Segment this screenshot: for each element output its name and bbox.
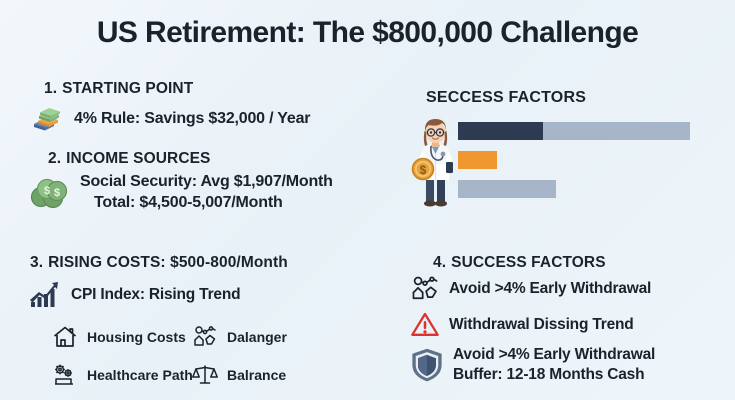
section-2-heading: 2.INCOME SOURCES bbox=[48, 150, 211, 168]
factor-grid-item: Healthcare Path bbox=[52, 362, 192, 388]
scales-icon bbox=[192, 362, 218, 388]
coins-icon: $ $ bbox=[26, 172, 72, 212]
svg-text:$: $ bbox=[54, 187, 60, 199]
chart-bar-2-segment-orange bbox=[458, 151, 497, 169]
page-title: US Retirement: The $800,000 Challenge bbox=[0, 16, 735, 50]
svg-text:$: $ bbox=[420, 163, 427, 177]
rising-bar-chart-icon bbox=[28, 280, 62, 310]
money-stack-icon bbox=[30, 104, 64, 134]
section-4-list: Avoid >4% Early Withdrawal Withdrawal Di… bbox=[410, 274, 735, 390]
section-1-heading: 1.STARTING POINT bbox=[44, 80, 193, 98]
section-3-title: RISING COSTS: $500-800/Month bbox=[48, 254, 288, 271]
section-4-item: Avoid >4% Early Withdrawal bbox=[410, 274, 735, 304]
section-3-row: CPI Index: Rising Trend bbox=[28, 280, 240, 310]
section-4-item: Avoid >4% Early Withdrawal Buffer: 12-18… bbox=[410, 346, 735, 384]
factor-grid-item: Dalanger bbox=[192, 324, 352, 350]
chart-bar-1-segment-light bbox=[543, 122, 690, 140]
section-4-item-texts: Avoid >4% Early Withdrawal bbox=[449, 280, 651, 298]
svg-text:$: $ bbox=[44, 185, 50, 197]
factor-grid-label: Dalanger bbox=[227, 329, 287, 345]
shield-icon bbox=[410, 347, 444, 383]
gears-icon bbox=[52, 362, 78, 388]
chart-bar-1-segment-dark bbox=[458, 122, 543, 140]
factor-grid: Housing Costs Dalanger bbox=[52, 324, 352, 388]
section-4-number: 4. bbox=[433, 254, 446, 271]
infographic-canvas: US Retirement: The $800,000 Challenge 1.… bbox=[0, 0, 735, 400]
network-people-icon bbox=[410, 274, 440, 304]
section-2-texts: Social Security: Avg $1,907/Month Total:… bbox=[80, 173, 333, 212]
section-1-title: STARTING POINT bbox=[62, 80, 193, 97]
left-column: 1.STARTING POINT 4% bbox=[0, 72, 388, 397]
factor-grid-item: Housing Costs bbox=[52, 324, 192, 350]
section-4-item-texts: Withdrawal Dissing Trend bbox=[449, 316, 634, 334]
section-2-title: INCOME SOURCES bbox=[66, 150, 210, 167]
doctor-with-coin-illustration: $ bbox=[404, 114, 466, 210]
section-4-item-line-1: Withdrawal Dissing Trend bbox=[449, 316, 634, 334]
factor-grid-label: Balrance bbox=[227, 367, 286, 383]
section-2-line-1: Social Security: Avg $1,907/Month bbox=[80, 173, 333, 191]
chart-bar-3-segment-light bbox=[458, 180, 556, 198]
section-4-item-line-1: Avoid >4% Early Withdrawal bbox=[453, 346, 655, 364]
section-2-line-2: Total: $4,500-5,007/Month bbox=[94, 194, 333, 212]
house-icon bbox=[52, 324, 78, 350]
section-4-item-line-1: Avoid >4% Early Withdrawal bbox=[449, 280, 651, 298]
section-4-item-texts: Avoid >4% Early Withdrawal Buffer: 12-18… bbox=[453, 346, 655, 384]
right-column: SECCESS FACTORS bbox=[388, 72, 735, 397]
section-4-item: Withdrawal Dissing Trend bbox=[410, 310, 735, 340]
section-3-number: 3. bbox=[30, 254, 43, 271]
section-3-text: CPI Index: Rising Trend bbox=[71, 286, 240, 304]
section-2-number: 2. bbox=[48, 150, 61, 167]
success-factors-chart-heading: SECCESS FACTORS bbox=[426, 89, 586, 107]
section-3-heading: 3.RISING COSTS: $500-800/Month bbox=[30, 254, 288, 272]
warning-triangle-icon bbox=[410, 310, 440, 340]
section-4-heading: 4.SUCCESS FACTORS bbox=[433, 254, 606, 272]
section-2-row: $ $ Social Security: Avg $1,907/Month To… bbox=[26, 172, 333, 212]
factor-grid-label: Healthcare Path bbox=[87, 367, 193, 383]
factor-grid-label: Housing Costs bbox=[87, 329, 186, 345]
section-4-item-line-2: Buffer: 12-18 Months Cash bbox=[453, 366, 655, 384]
section-4-title: SUCCESS FACTORS bbox=[451, 254, 606, 271]
section-1-number: 1. bbox=[44, 80, 57, 97]
factor-grid-item: Balrance bbox=[192, 362, 352, 388]
section-1-text: 4% Rule: Savings $32,000 / Year bbox=[74, 110, 310, 128]
section-1-row: 4% Rule: Savings $32,000 / Year bbox=[30, 104, 310, 134]
network-people-icon bbox=[192, 324, 218, 350]
